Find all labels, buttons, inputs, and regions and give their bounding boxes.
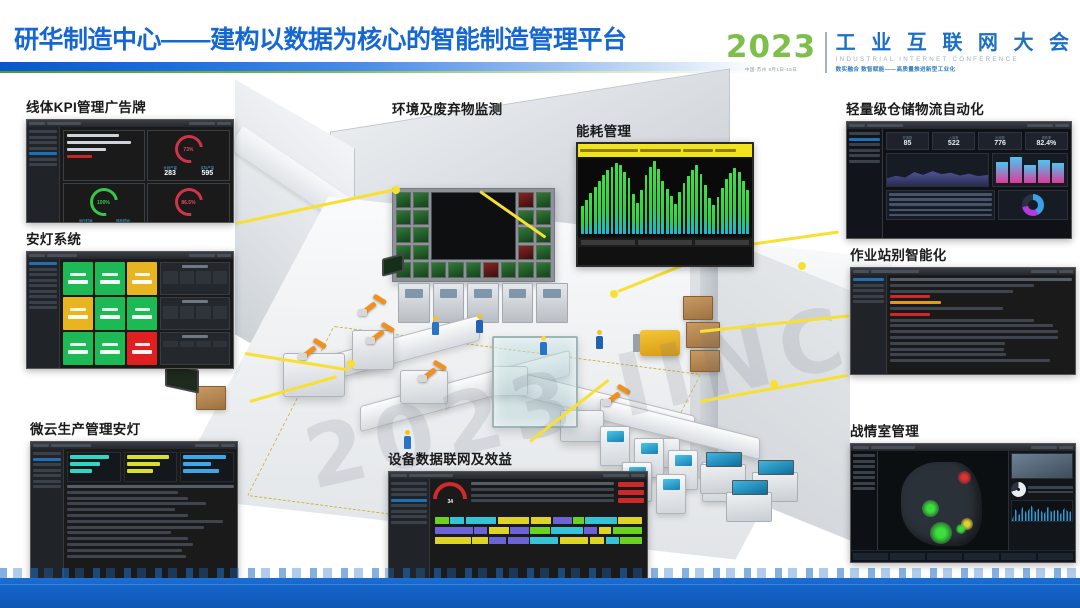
table-row[interactable]	[67, 549, 182, 552]
callout-war-room: 战情室管理	[850, 420, 1076, 563]
app-content: 34	[430, 479, 647, 582]
warehouse-kpis: 在库数85 入库数522 出库数776 周转率82.4%	[886, 132, 1068, 150]
cabinet	[536, 283, 568, 323]
callout-micro-cloud-andon: 微云生产管理安灯	[30, 418, 238, 581]
table-row[interactable]	[890, 290, 1013, 293]
war-room-status-strip	[851, 550, 1075, 562]
callout-kpi-billboard: 线体KPI管理广告牌 73% 计划产量283 实际产量595	[26, 96, 234, 223]
warehouse-bar	[1052, 163, 1064, 183]
video-wall-cell	[396, 192, 411, 208]
energy-bar	[670, 196, 673, 235]
energy-bar	[636, 203, 639, 235]
gantt-segment	[435, 537, 471, 544]
table-row[interactable]	[890, 284, 1034, 287]
app-sidebar[interactable]	[27, 259, 60, 368]
scene-control-cabinets	[398, 283, 568, 323]
video-wall-cell	[501, 262, 516, 278]
scene-control-desks	[700, 446, 840, 516]
andon-tile[interactable]	[63, 262, 93, 295]
callout-equipment-network: 设备数据联网及效益 34	[388, 448, 648, 583]
energy-bar	[687, 176, 690, 234]
table-row[interactable]	[890, 359, 1051, 362]
table-row[interactable]	[67, 555, 186, 558]
gantt-segment	[590, 537, 605, 544]
map-location-blip[interactable]	[922, 500, 939, 517]
energy-bar	[708, 198, 711, 235]
table-row[interactable]	[890, 313, 930, 316]
progress-bar-groups	[67, 452, 234, 482]
titlebar	[27, 120, 233, 127]
callout-workstation-smart: 作业站别智能化	[850, 244, 1076, 375]
callout-label-equipment-network: 设备数据联网及效益	[388, 448, 648, 468]
warehouse-donut-chart	[998, 190, 1068, 220]
logo-conference-cn: 工 业 互 联 网 大 会	[836, 33, 1074, 54]
equipment-gantt-chart	[433, 515, 644, 549]
cabinet	[398, 283, 430, 323]
energy-bar	[594, 187, 597, 235]
energy-bar-chart	[578, 159, 752, 236]
footer-band	[0, 578, 1080, 608]
energy-bar	[695, 165, 698, 234]
energy-bar	[717, 197, 720, 235]
app-content: 在库数85 入库数522 出库数776 周转率82.4%	[883, 129, 1071, 238]
app-content: 73% 计划产量283 实际产量595 100% 运行时间2/3 停机时间253	[60, 127, 233, 222]
table-row[interactable]	[67, 497, 188, 500]
table-row[interactable]	[67, 526, 205, 529]
gantt-segment	[489, 527, 509, 534]
scene-pallet	[686, 322, 720, 348]
leader-endpoint	[347, 360, 355, 368]
energy-bar	[653, 161, 656, 234]
energy-bar	[598, 181, 601, 234]
video-wall-cell	[413, 262, 428, 278]
callout-energy-mgmt: 能耗管理	[576, 142, 754, 267]
kpi-gauge-cell: 100% 运行时间2/3 停机时间253	[63, 183, 146, 222]
energy-bar	[611, 167, 614, 234]
screenshot-war-room[interactable]	[850, 443, 1076, 563]
gantt-segment	[498, 517, 530, 524]
andon-tile[interactable]	[127, 297, 157, 330]
callout-label-micro-cloud-andon: 微云生产管理安灯	[30, 418, 238, 438]
gantt-segment	[531, 517, 552, 524]
app-sidebar[interactable]	[27, 127, 60, 222]
conference-logo: 2023 中国·苏州 8月1日-16日 工 业 互 联 网 大 会 INDUST…	[726, 32, 1074, 73]
gantt-segment	[620, 537, 642, 544]
energy-bar	[585, 200, 588, 235]
screenshot-micro-cloud-andon[interactable]	[30, 441, 238, 581]
gantt-segment	[573, 517, 584, 524]
titlebar	[389, 472, 647, 479]
table-row[interactable]	[67, 491, 178, 494]
warehouse-bar-chart	[992, 153, 1068, 187]
logo-year: 2023	[726, 32, 816, 63]
page-title: 研华制造中心——建构以数据为核心的智能制造管理平台	[14, 20, 627, 56]
energy-bar	[581, 206, 584, 235]
andon-tile[interactable]	[95, 262, 125, 295]
andon-tile[interactable]	[63, 297, 93, 330]
gantt-segment	[489, 537, 506, 544]
app-sidebar[interactable]	[31, 449, 64, 580]
header-gradient-rule	[0, 62, 758, 71]
energy-bar	[615, 163, 618, 234]
gantt-segment	[472, 537, 487, 544]
scene-worker	[540, 336, 547, 355]
table-row[interactable]	[67, 531, 171, 534]
video-wall-cell	[448, 262, 463, 278]
screenshot-equipment-network[interactable]: 34	[388, 471, 648, 583]
warehouse-area-chart	[886, 153, 990, 187]
energy-bar	[691, 170, 694, 234]
table-row[interactable]	[890, 342, 1005, 345]
energy-bar	[645, 175, 648, 234]
scene-pallet	[690, 350, 720, 372]
cabinet	[502, 283, 534, 323]
live-camera-feed[interactable]	[1011, 453, 1073, 479]
logo-divider	[825, 32, 827, 73]
table-row[interactable]	[67, 514, 188, 517]
energy-bar	[683, 183, 686, 234]
war-room-sparkline	[1011, 500, 1073, 522]
video-wall-cell	[431, 262, 446, 278]
andon-tile[interactable]	[63, 332, 93, 365]
leader-endpoint	[798, 262, 806, 270]
scene-forklift	[640, 330, 680, 356]
gantt-segment	[530, 537, 558, 544]
video-wall-cell	[413, 227, 428, 243]
video-wall-cell	[413, 245, 428, 261]
andon-tile[interactable]	[127, 262, 157, 295]
andon-tile[interactable]	[127, 332, 157, 365]
gantt-segment	[530, 527, 549, 534]
header-green-rule	[0, 71, 758, 73]
titlebar	[851, 268, 1075, 275]
energy-bar	[733, 168, 736, 234]
warehouse-bar	[1010, 157, 1022, 183]
energy-bar	[666, 189, 669, 235]
leader-endpoint	[610, 290, 618, 298]
table-row[interactable]	[890, 278, 1072, 281]
gantt-segment	[474, 527, 487, 534]
gauge-ring: 86.5%	[169, 183, 208, 222]
table-row[interactable]	[890, 330, 1058, 333]
callout-label-andon-system: 安灯系统	[26, 228, 234, 248]
callout-label-kpi-billboard: 线体KPI管理广告牌	[26, 96, 234, 116]
video-wall-cell	[536, 245, 551, 261]
gauge-ring: 73%	[169, 130, 208, 169]
andon-status-grid	[63, 262, 157, 365]
video-wall-cell	[483, 262, 498, 278]
energy-bar	[602, 175, 605, 234]
status-table[interactable]	[471, 482, 614, 512]
gantt-segment	[450, 517, 464, 524]
gantt-row	[435, 517, 642, 524]
table-row[interactable]	[890, 307, 1003, 310]
war-room-side-panels	[1008, 451, 1075, 562]
gantt-segment	[560, 537, 589, 544]
gantt-segment	[613, 527, 642, 534]
energy-bar	[657, 169, 660, 234]
table-row[interactable]	[890, 348, 1004, 351]
video-wall-cell	[536, 192, 551, 208]
app-content	[60, 259, 233, 368]
energy-bar	[674, 204, 677, 235]
video-wall-cell	[466, 262, 481, 278]
table-row[interactable]	[890, 301, 941, 304]
app-content	[64, 449, 237, 580]
energy-bar	[632, 194, 635, 235]
warehouse-bar	[996, 162, 1008, 183]
gantt-segment	[606, 537, 619, 544]
logo-city-date: 中国·苏州 8月1日-16日	[726, 67, 816, 73]
workstation-table[interactable]	[887, 275, 1075, 374]
table-row[interactable]	[67, 485, 234, 488]
andon-tile[interactable]	[95, 332, 125, 365]
andon-tile[interactable]	[95, 297, 125, 330]
logo-conference-sub: 数实融合 数智赋能——高质量推进新型工业化	[836, 65, 1074, 73]
callout-andon-system: 安灯系统	[26, 228, 234, 369]
gantt-segment	[599, 527, 612, 534]
energy-bar	[589, 193, 592, 235]
alarm-chips	[618, 482, 644, 512]
energy-bar	[746, 190, 749, 235]
screenshot-kpi-billboard[interactable]: 73% 计划产量283 实际产量595 100% 运行时间2/3 停机时间253	[26, 119, 234, 223]
callout-label-workstation-smart: 作业站别智能化	[850, 244, 1076, 264]
energy-bar	[649, 167, 652, 234]
video-wall-cell	[536, 210, 551, 226]
gantt-segment	[551, 527, 583, 534]
data-table[interactable]	[67, 485, 234, 580]
video-wall-cell	[518, 192, 533, 208]
table-row[interactable]	[67, 543, 193, 546]
scene-workstation	[656, 474, 686, 514]
kpi-gauge-cell: 86.5% 17'4" 16'19"	[147, 183, 230, 222]
gantt-segment	[553, 517, 572, 524]
screenshot-workstation-smart[interactable]	[850, 267, 1076, 375]
energy-bar	[619, 165, 622, 234]
gantt-row	[435, 537, 642, 544]
energy-bar	[606, 170, 609, 234]
logo-year-block: 2023 中国·苏州 8月1日-16日	[726, 32, 825, 73]
kpi-info-cell	[63, 130, 146, 181]
scene-worker	[432, 316, 439, 335]
energy-bar	[742, 181, 745, 234]
table-row[interactable]	[890, 319, 1034, 322]
video-wall-cell	[518, 245, 533, 261]
map-location-blip[interactable]	[930, 522, 952, 544]
scene-worker	[476, 314, 483, 333]
table-row[interactable]	[890, 324, 1054, 327]
video-wall-cell	[413, 192, 428, 208]
callout-label-energy-mgmt: 能耗管理	[576, 120, 631, 140]
andon-stats	[160, 262, 230, 365]
energy-bar	[623, 172, 626, 234]
warehouse-bar	[1038, 160, 1050, 183]
leader-endpoint	[770, 380, 778, 388]
energy-bar	[704, 185, 707, 234]
gantt-row	[435, 527, 642, 534]
app-sidebar[interactable]	[851, 451, 878, 562]
app-sidebar[interactable]	[389, 479, 430, 582]
scene-pallet	[683, 296, 713, 320]
table-row[interactable]	[67, 508, 175, 511]
app-sidebar[interactable]	[851, 275, 887, 374]
war-room-metrics	[1011, 482, 1073, 497]
screenshot-energy-mgmt[interactable]	[576, 142, 754, 267]
leader-endpoint	[392, 186, 400, 194]
scene-pallet	[196, 386, 226, 410]
screenshot-warehouse-logistics[interactable]: 在库数85 入库数522 出库数776 周转率82.4%	[846, 121, 1072, 239]
table-row[interactable]	[67, 502, 206, 505]
gantt-segment	[510, 527, 529, 534]
energy-bar	[738, 172, 741, 234]
callout-warehouse-logistics: 轻量级仓储物流自动化 在库数85 入库数522 出库数776 周转率82.4%	[846, 98, 1072, 239]
table-row[interactable]	[890, 353, 1006, 356]
energy-footer-bar	[578, 238, 752, 247]
table-row[interactable]	[890, 295, 930, 298]
titlebar	[851, 444, 1075, 451]
app-sidebar[interactable]	[847, 129, 883, 238]
titlebar	[31, 442, 237, 449]
gantt-segment	[508, 537, 529, 544]
video-wall-cell	[518, 262, 533, 278]
gantt-segment	[435, 517, 448, 524]
energy-bar	[725, 179, 728, 234]
gantt-segment	[435, 527, 473, 534]
scene-video-wall	[392, 188, 555, 282]
energy-bar	[628, 178, 631, 234]
scene-desk	[726, 492, 772, 522]
energy-bar	[712, 205, 715, 235]
gantt-segment	[618, 517, 642, 524]
callout-label-env-waste: 环境及废弃物监测	[392, 98, 558, 118]
table-row[interactable]	[67, 520, 223, 523]
energy-bar	[661, 181, 664, 234]
video-wall-cell	[396, 227, 411, 243]
kpi-gauge-cell: 73% 计划产量283 实际产量595	[147, 130, 230, 181]
table-row[interactable]	[67, 537, 188, 540]
gantt-segment	[584, 527, 597, 534]
gantt-segment	[466, 517, 496, 524]
callout-label-war-room: 战情室管理	[850, 420, 1076, 440]
callout-label-warehouse-logistics: 轻量级仓储物流自动化	[846, 98, 1072, 118]
energy-bar	[640, 190, 643, 235]
logo-text-block: 工 业 互 联 网 大 会 INDUSTRIAL INTERNET CONFER…	[836, 32, 1074, 73]
gantt-segment	[585, 517, 616, 524]
energy-alert-banner	[578, 144, 752, 157]
video-wall-cell	[413, 210, 428, 226]
warehouse-bar	[1024, 165, 1036, 183]
table-row[interactable]	[890, 336, 1058, 339]
video-wall-cell	[396, 210, 411, 226]
energy-bar	[678, 192, 681, 235]
energy-bar	[700, 174, 703, 234]
scene-worker	[404, 430, 411, 449]
energy-bar	[721, 188, 724, 235]
video-wall-cell	[536, 262, 551, 278]
callout-env-waste: 环境及废弃物监测	[392, 98, 558, 121]
titlebar	[27, 252, 233, 259]
video-wall-main-screen	[431, 192, 516, 260]
screenshot-andon-system[interactable]	[26, 251, 234, 369]
gauge-ring: 100%	[85, 183, 124, 222]
china-map-view[interactable]	[878, 451, 1008, 562]
oee-gauge: 34	[433, 482, 467, 506]
titlebar	[847, 122, 1071, 129]
energy-bar	[729, 173, 732, 234]
scene-worker	[596, 330, 603, 349]
warehouse-table[interactable]	[886, 190, 995, 220]
logo-conference-en: INDUSTRIAL INTERNET CONFERENCE	[836, 56, 1074, 63]
